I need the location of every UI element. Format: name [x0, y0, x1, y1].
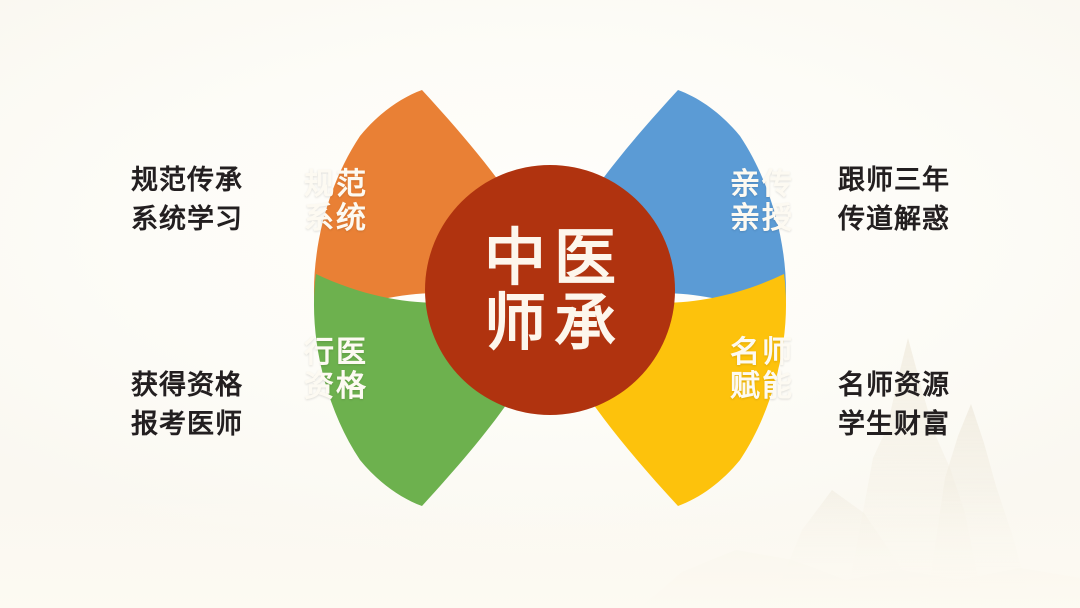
infographic-canvas: 规范 系统 亲传 亲授 行医 资格 名师 赋能 中医 师承 规范传承 系统学习 … — [0, 0, 1080, 608]
caption-top-left: 规范传承 系统学习 — [131, 161, 243, 239]
caption-top-right-line2: 传道解惑 — [838, 200, 950, 239]
caption-top-right-line1: 跟师三年 — [838, 161, 950, 200]
caption-top-left-line1: 规范传承 — [131, 161, 243, 200]
caption-bottom-left: 获得资格 报考医师 — [131, 366, 243, 444]
caption-top-left-line2: 系统学习 — [131, 200, 243, 239]
caption-bottom-right-line2: 学生财富 — [838, 405, 950, 444]
caption-top-right: 跟师三年 传道解惑 — [838, 161, 950, 239]
caption-bottom-right: 名师资源 学生财富 — [838, 366, 950, 444]
petal-diagram: 规范 系统 亲传 亲授 行医 资格 名师 赋能 中医 师承 — [230, 78, 870, 518]
center-circle-shape — [425, 165, 675, 415]
caption-bottom-right-line1: 名师资源 — [838, 366, 950, 405]
caption-bottom-left-line2: 报考医师 — [131, 405, 243, 444]
caption-bottom-left-line1: 获得资格 — [131, 366, 243, 405]
petal-shapes — [230, 78, 870, 518]
